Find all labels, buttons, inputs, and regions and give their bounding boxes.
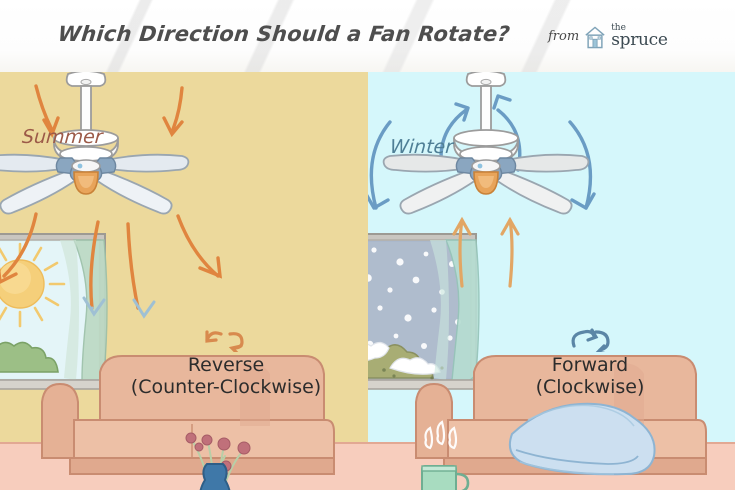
rotation-block-summer: Reverse (Counter-Clockwise)	[106, 327, 346, 399]
season-label-summer: Summer	[21, 126, 103, 148]
infographic-root: Which Direction Should a Fan Rotate? fro…	[0, 0, 735, 490]
winter-scene	[368, 72, 735, 490]
house-icon	[584, 25, 606, 49]
season-label-winter: Winter	[389, 136, 454, 158]
rotation-sub-label-summer: (Counter-Clockwise)	[106, 377, 346, 399]
page-title: Which Direction Should a Fan Rotate?	[57, 22, 511, 46]
airflow-arrows-summer	[0, 86, 220, 308]
brand-wordmark: the spruce	[611, 24, 667, 49]
floor-winter	[368, 442, 735, 490]
floor-summer	[0, 442, 368, 490]
brand-logo: from the spruce	[548, 24, 668, 49]
airflow-arrows-winter-secondary	[454, 220, 518, 286]
rotation-main-label-summer: Reverse	[106, 355, 346, 377]
airflow-arrows-summer-secondary	[84, 298, 154, 316]
snowy-window-icon	[368, 234, 479, 389]
rotation-sub-label-winter: (Clockwise)	[470, 377, 710, 399]
brand-name-label: spruce	[611, 32, 667, 49]
panel-summer: Summer Reverse (Counter-Clockwise)	[0, 72, 368, 490]
sunny-window-icon	[0, 234, 108, 389]
rotation-block-winter: Forward (Clockwise)	[470, 327, 710, 399]
rotation-main-label-winter: Forward	[470, 355, 710, 377]
header-bar: Which Direction Should a Fan Rotate? fro…	[0, 0, 735, 72]
brand-from-label: from	[548, 29, 579, 44]
clockwise-arrows-icon	[470, 327, 710, 353]
panel-winter: Winter Forward (Clockwise)	[368, 72, 735, 490]
counter-clockwise-arrows-icon	[106, 327, 346, 353]
